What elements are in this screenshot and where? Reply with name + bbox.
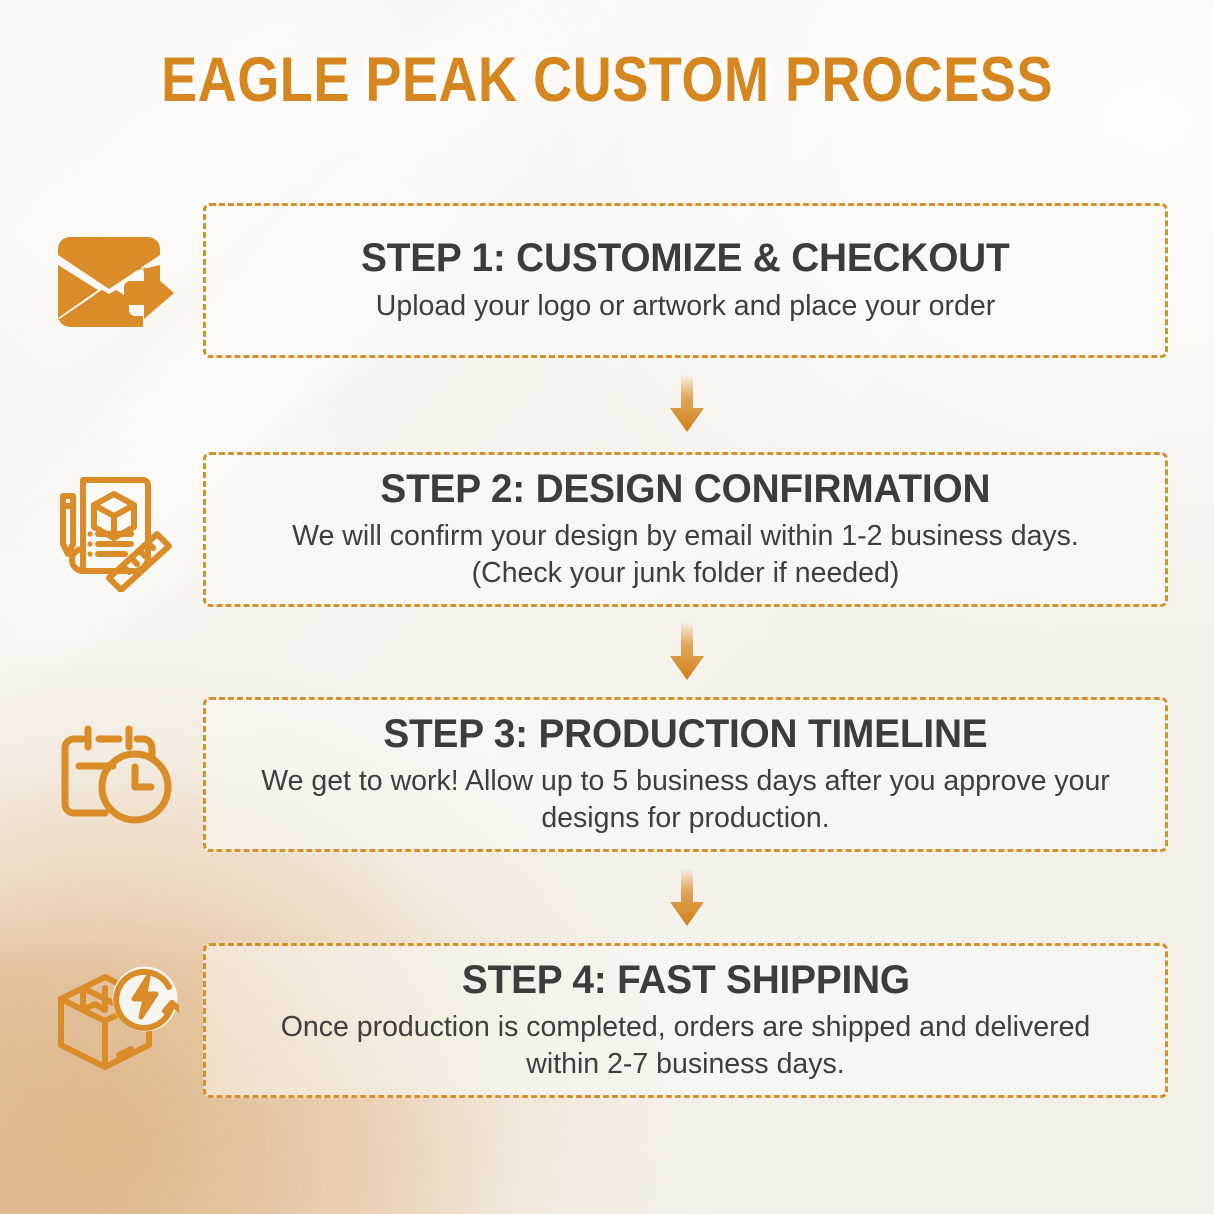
step-description: Once production is completed, orders are… <box>246 1009 1126 1083</box>
step-description: We will confirm your design by email wit… <box>246 518 1126 592</box>
step-row-4: STEP 4: FAST SHIPPING Once production is… <box>0 943 1214 1098</box>
step-card-3: STEP 3: PRODUCTION TIMELINE We get to wo… <box>203 697 1168 852</box>
arrow-step3-to-step4 <box>659 868 715 928</box>
step-title: STEP 1: CUSTOMIZE & CHECKOUT <box>361 236 1009 281</box>
step-card-4: STEP 4: FAST SHIPPING Once production is… <box>203 943 1168 1098</box>
step-card-2: STEP 2: DESIGN CONFIRMATION We will conf… <box>203 452 1168 607</box>
calendar-clock-icon <box>38 709 190 841</box>
step-row-1: STEP 1: CUSTOMIZE & CHECKOUT Upload your… <box>0 203 1214 358</box>
step-row-3: STEP 3: PRODUCTION TIMELINE We get to wo… <box>0 697 1214 852</box>
infographic-canvas: EAGLE PEAK CUSTOM PROCESS STEP 1: CUSTOM… <box>0 0 1214 1214</box>
step-title: STEP 2: DESIGN CONFIRMATION <box>381 467 991 512</box>
arrow-step1-to-step2 <box>659 374 715 434</box>
page-title: EAGLE PEAK CUSTOM PROCESS <box>85 44 1129 116</box>
step-title: STEP 4: FAST SHIPPING <box>462 958 910 1003</box>
step-row-2: STEP 2: DESIGN CONFIRMATION We will conf… <box>0 452 1214 607</box>
step-description: Upload your logo or artwork and place yo… <box>376 288 995 325</box>
step-description: We get to work! Allow up to 5 business d… <box>246 763 1126 837</box>
step-card-1: STEP 1: CUSTOMIZE & CHECKOUT Upload your… <box>203 203 1168 358</box>
design-document-icon <box>38 464 190 596</box>
envelope-send-icon <box>38 215 190 347</box>
arrow-step2-to-step3 <box>659 622 715 682</box>
fast-shipping-box-icon <box>38 955 190 1087</box>
step-title: STEP 3: PRODUCTION TIMELINE <box>383 712 987 757</box>
